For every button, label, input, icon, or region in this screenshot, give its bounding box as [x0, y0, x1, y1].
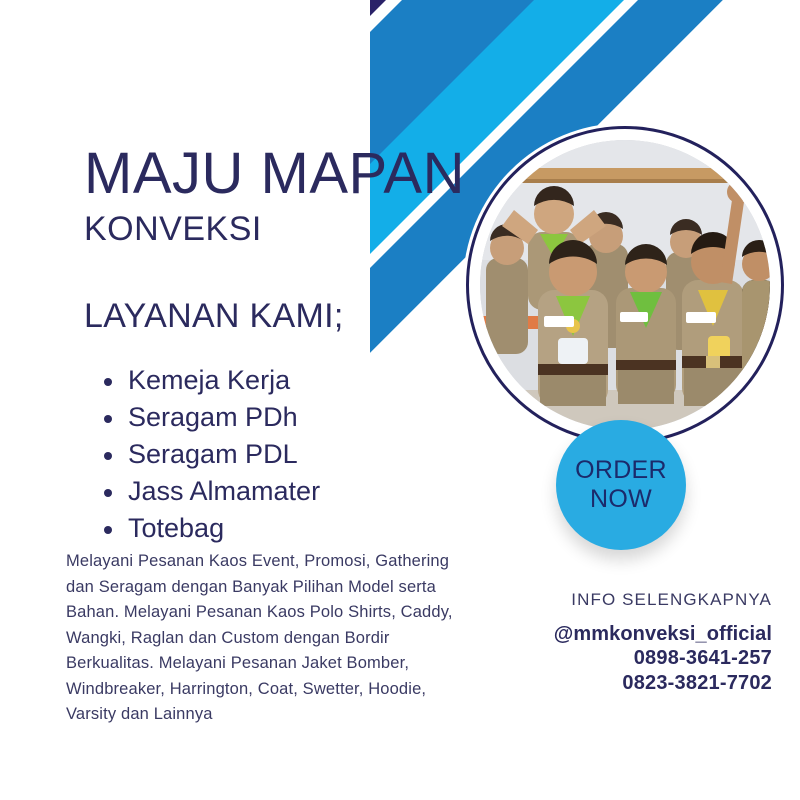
list-item: Kemeja Kerja	[98, 362, 320, 399]
services-heading: LAYANAN KAMI;	[84, 296, 344, 336]
page-title: MAJU MAPAN	[84, 143, 465, 205]
contact-label: INFO SELENGKAPNYA	[554, 590, 772, 610]
service-label: Kemeja Kerja	[128, 365, 290, 395]
bullet-icon	[104, 415, 112, 423]
service-label: Totebag	[128, 513, 224, 543]
contact-block: INFO SELENGKAPNYA @mmkonveksi_official 0…	[554, 590, 772, 696]
order-now-line1: ORDER	[575, 456, 667, 485]
order-now-button[interactable]: ORDER NOW	[556, 420, 686, 550]
list-item: Jass Almamater	[98, 473, 320, 510]
bullet-icon	[104, 452, 112, 460]
brand-heading: MAJU MAPAN KONVEKSI	[84, 143, 465, 249]
list-item: Seragam PDh	[98, 399, 320, 436]
phone-number-secondary[interactable]: 0823-3821-7702	[554, 671, 772, 696]
instagram-handle[interactable]: @mmkonveksi_official	[554, 623, 772, 646]
list-item: Seragam PDL	[98, 436, 320, 473]
photo-ring-border	[466, 126, 784, 444]
bullet-icon	[104, 526, 112, 534]
phone-number-primary[interactable]: 0898-3641-257	[554, 646, 772, 671]
bullet-icon	[104, 489, 112, 497]
brand-subtitle: KONVEKSI	[84, 209, 465, 249]
service-label: Seragam PDL	[128, 439, 298, 469]
service-label: Seragam PDh	[128, 402, 298, 432]
description-text: Melayani Pesanan Kaos Event, Promosi, Ga…	[66, 549, 458, 728]
hero-photo-frame	[466, 126, 784, 444]
bullet-icon	[104, 378, 112, 386]
services-list: Kemeja Kerja Seragam PDh Seragam PDL Jas…	[98, 362, 320, 547]
list-item: Totebag	[98, 510, 320, 547]
service-label: Jass Almamater	[128, 476, 320, 506]
poster-canvas: MAJU MAPAN KONVEKSI LAYANAN KAMI; Kemeja…	[0, 0, 800, 800]
order-now-line2: NOW	[590, 485, 652, 514]
